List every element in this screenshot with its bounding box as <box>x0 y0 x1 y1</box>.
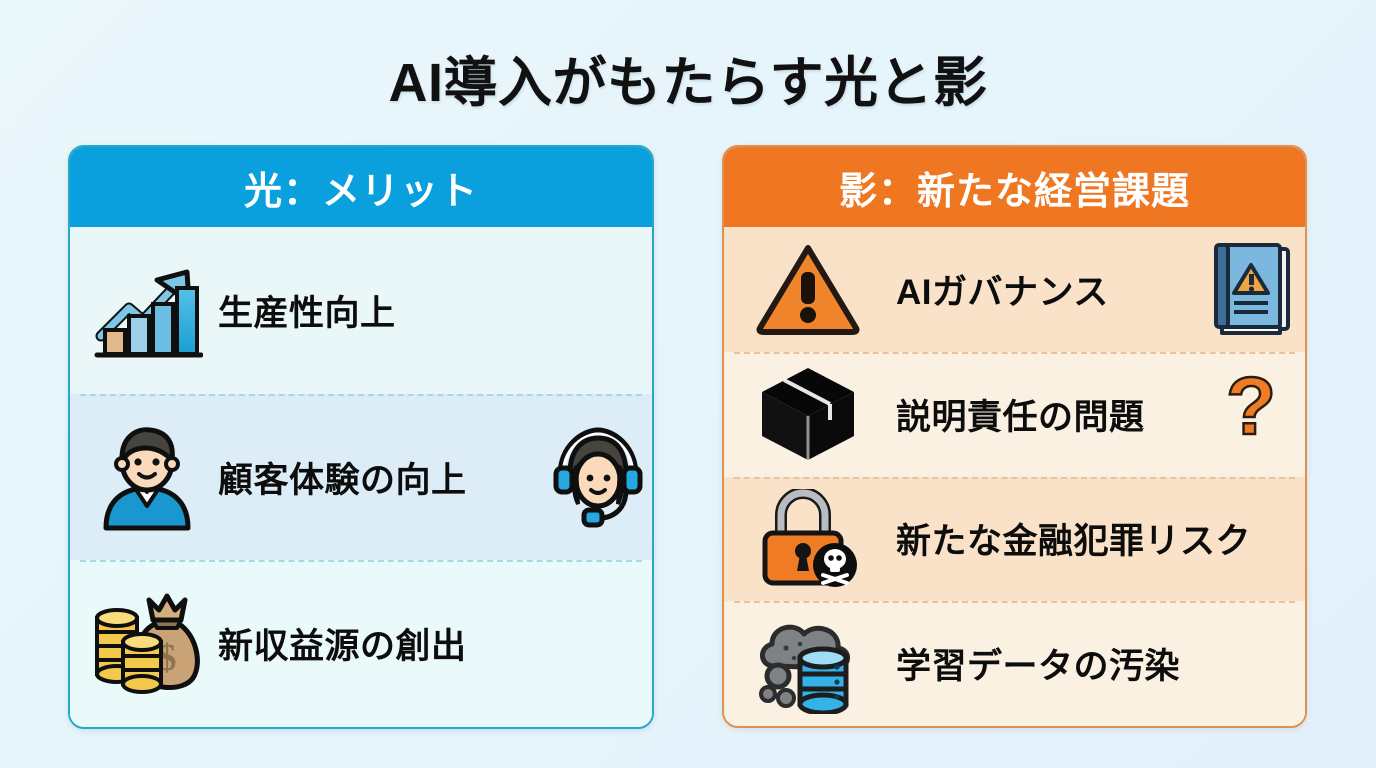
list-item[interactable]: 説明責任の問題 ? <box>724 352 1305 477</box>
rulebook-warning-icon <box>1203 237 1299 341</box>
smog-database-icon <box>742 609 874 719</box>
list-item-label: AIガバナンス <box>874 264 1203 315</box>
list-item-label: 生産性向上 <box>206 285 646 336</box>
list-item-label: 学習データの汚染 <box>874 638 1299 689</box>
card-challenges-rows: AIガバナンス <box>724 227 1305 726</box>
list-item[interactable]: $ 新収益源の創 <box>70 560 652 727</box>
list-item-label: 顧客体験の向上 <box>206 452 550 503</box>
svg-text:?: ? <box>1226 366 1276 452</box>
warning-triangle-icon <box>742 234 874 344</box>
headset-agent-icon <box>550 425 646 529</box>
list-item[interactable]: 学習データの汚染 <box>724 601 1305 726</box>
list-item[interactable]: 生産性向上 <box>70 227 652 394</box>
card-challenges-header-label: 影：新たな経営課題 <box>839 160 1190 215</box>
card-challenges: 影：新たな経営課題 AIガバナンス <box>722 145 1307 728</box>
list-item-label: 説明責任の問題 <box>874 389 1203 440</box>
card-challenges-header: 影：新たな経営課題 <box>724 147 1305 227</box>
list-item[interactable]: AIガバナンス <box>724 227 1305 352</box>
money-bag-coins-icon: $ <box>88 589 206 699</box>
page-title: AI導入がもたらす光と影 <box>0 38 1376 117</box>
list-item[interactable]: 新たな金融犯罪リスク <box>724 477 1305 602</box>
card-merits-header: 光：メリット <box>70 147 652 227</box>
growth-chart-icon <box>88 255 206 365</box>
card-merits-header-label: 光：メリット <box>244 160 478 215</box>
question-mark-icon: ? <box>1203 362 1299 466</box>
padlock-skull-icon <box>742 484 874 594</box>
list-item[interactable]: 顧客体験の向上 <box>70 394 652 561</box>
card-merits-rows: 生産性向上 <box>70 227 652 727</box>
card-merits: 光：メリット <box>68 145 654 729</box>
list-item-label: 新収益源の創出 <box>206 618 646 669</box>
black-box-icon <box>742 359 874 469</box>
customer-person-icon <box>88 422 206 532</box>
list-item-label: 新たな金融犯罪リスク <box>874 513 1299 564</box>
